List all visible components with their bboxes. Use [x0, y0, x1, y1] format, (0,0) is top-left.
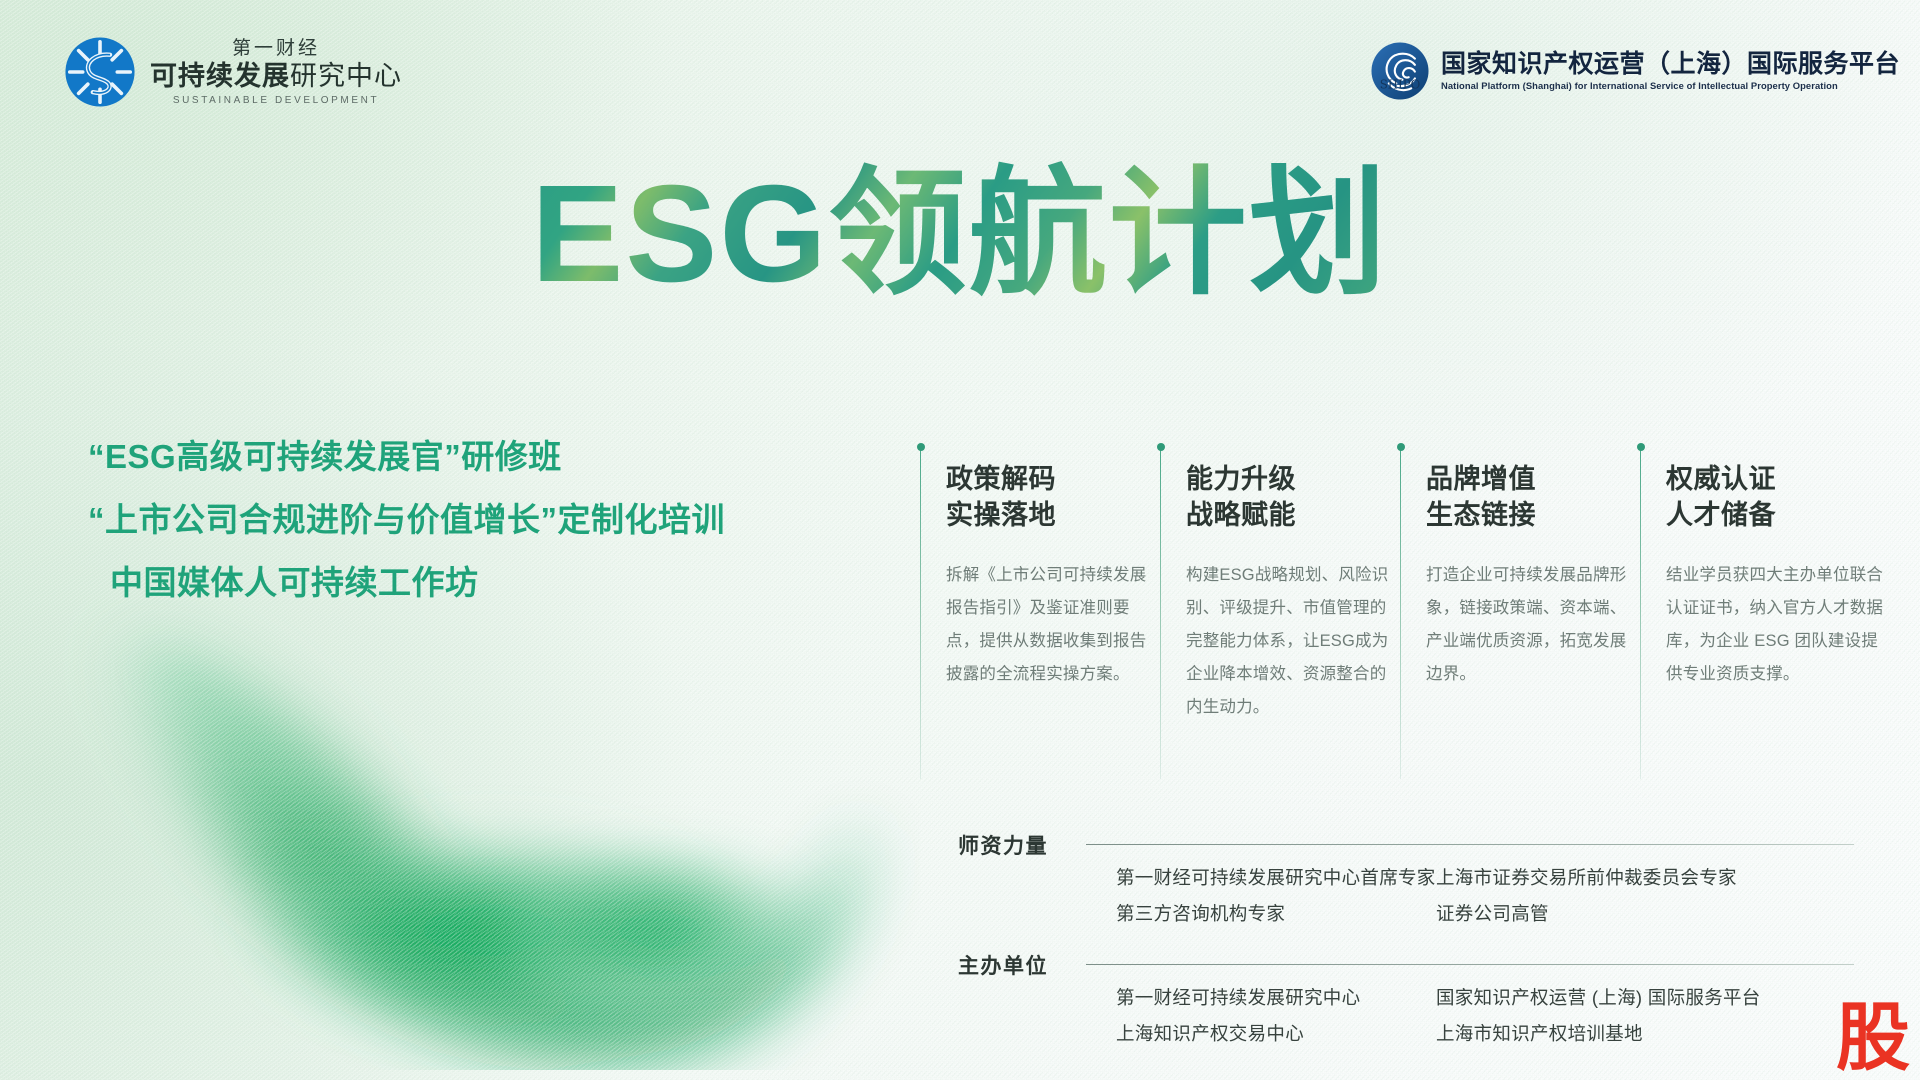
column-divider-line: [1160, 449, 1161, 779]
feature-heading-4-line1: 权威认证: [1666, 464, 1776, 494]
faculty-label: 师资力量: [958, 830, 1048, 860]
column-marker-dot-icon: [917, 443, 925, 451]
feature-heading-1: 政策解码实操落地: [946, 461, 1160, 533]
svg-text:SHIPO: SHIPO: [1380, 77, 1421, 91]
host-item: 第一财经可持续发展研究中心: [1116, 980, 1436, 1016]
hosts-column-2: 国家知识产权运营 (上海) 国际服务平台 上海市知识产权培训基地: [1436, 980, 1876, 1051]
shipo-title-cn: 国家知识产权运营（上海）国际服务平台: [1441, 51, 1900, 77]
shipo-logo-text: 国家知识产权运营（上海）国际服务平台 National Platform (Sh…: [1441, 51, 1900, 91]
faculty-item: 上海市证券交易所前仲裁委员会专家: [1436, 860, 1876, 896]
cbn-brand-en: SUSTAINABLE DEVELOPMENT: [173, 96, 379, 106]
shipo-national-platform-logo: SHIPO 国家知识产权运营（上海）国际服务平台 National Platfo…: [1369, 40, 1900, 102]
hosts-column-1: 第一财经可持续发展研究中心 上海知识产权交易中心: [1116, 980, 1436, 1051]
faculty-item: 第一财经可持续发展研究中心首席专家: [1116, 860, 1436, 896]
feature-columns: 政策解码实操落地 拆解《上市公司可持续发展报告指引》及鉴证准则要点，提供从数据收…: [920, 443, 1890, 724]
column-divider-line: [920, 449, 921, 779]
hosts-divider: [1086, 964, 1854, 965]
faculty-column-1: 第一财经可持续发展研究中心首席专家 第三方咨询机构专家: [1116, 860, 1436, 931]
feature-body-3: 打造企业可持续发展品牌形象，链接政策端、资本端、产业端优质资源，拓宽发展边界。: [1426, 559, 1640, 691]
feature-heading-2-line2: 战略赋能: [1186, 500, 1296, 530]
feature-body-2: 构建ESG战略规划、风险识别、评级提升、市值管理的完整能力体系，让ESG成为企业…: [1186, 559, 1400, 724]
shipo-title-en: National Platform (Shanghai) for Interna…: [1441, 81, 1900, 91]
feature-heading-3-line2: 生态链接: [1426, 500, 1536, 530]
feature-heading-4-line2: 人才储备: [1666, 500, 1776, 530]
feature-heading-2: 能力升级战略赋能: [1186, 461, 1400, 533]
program-item-1: “ESG高级可持续发展官”研修班: [88, 440, 888, 473]
column-marker-dot-icon: [1397, 443, 1405, 451]
hosts-columns: 第一财经可持续发展研究中心 上海知识产权交易中心 国家知识产权运营 (上海) 国…: [1116, 980, 1878, 1051]
host-item: 上海知识产权交易中心: [1116, 1016, 1436, 1052]
feature-heading-4: 权威认证人才储备: [1666, 461, 1890, 533]
feature-heading-3: 品牌增值生态链接: [1426, 461, 1640, 533]
program-item-3: 中国媒体人可持续工作坊: [88, 566, 888, 599]
cbn-brand-line1: 第一财经: [232, 39, 320, 58]
poster-canvas: 第一财经 可持续发展研究中心 SUSTAINABLE DEVELOPMENT S…: [0, 0, 1920, 1080]
page-title: ESG领航计划: [531, 148, 1388, 321]
red-stamp-watermark: 股: [1836, 1004, 1910, 1072]
cbn-brand-line2: 可持续发展研究中心: [150, 63, 402, 90]
feature-heading-1-line1: 政策解码: [946, 464, 1056, 494]
feature-column-4: 权威认证人才储备 结业学员获四大主办单位联合认证证书，纳入官方人才数据库，为企业…: [1640, 443, 1890, 724]
faculty-divider: [1086, 844, 1854, 845]
feature-heading-1-line2: 实操落地: [946, 500, 1056, 530]
cbn-brand-bold: 可持续发展: [150, 61, 290, 91]
column-marker-dot-icon: [1637, 443, 1645, 451]
program-item-2: “上市公司合规进阶与价值增长”定制化培训: [88, 503, 888, 536]
main-title-area: ESG领航计划: [0, 148, 1920, 321]
green-swoosh-decoration: [20, 600, 920, 1070]
column-divider-line: [1400, 449, 1401, 779]
feature-column-3: 品牌增值生态链接 打造企业可持续发展品牌形象，链接政策端、资本端、产业端优质资源…: [1400, 443, 1640, 724]
aperture-shutter-icon: [64, 36, 136, 108]
cbn-sustainable-development-logo: 第一财经 可持续发展研究中心 SUSTAINABLE DEVELOPMENT: [64, 36, 402, 108]
faculty-item: 证券公司高管: [1436, 896, 1876, 932]
faculty-column-2: 上海市证券交易所前仲裁委员会专家 证券公司高管: [1436, 860, 1876, 931]
faculty-item: 第三方咨询机构专家: [1116, 896, 1436, 932]
cbn-brand-light: 研究中心: [290, 61, 402, 91]
fingerprint-circle-icon: SHIPO: [1369, 40, 1431, 102]
faculty-columns: 第一财经可持续发展研究中心首席专家 第三方咨询机构专家 上海市证券交易所前仲裁委…: [1116, 860, 1878, 931]
feature-heading-3-line1: 品牌增值: [1426, 464, 1536, 494]
hosts-label: 主办单位: [958, 950, 1048, 980]
feature-body-4: 结业学员获四大主办单位联合认证证书，纳入官方人才数据库，为企业 ESG 团队建设…: [1666, 559, 1890, 691]
host-item: 上海市知识产权培训基地: [1436, 1016, 1876, 1052]
feature-column-2: 能力升级战略赋能 构建ESG战略规划、风险识别、评级提升、市值管理的完整能力体系…: [1160, 443, 1400, 724]
cbn-logo-text: 第一财经 可持续发展研究中心 SUSTAINABLE DEVELOPMENT: [150, 39, 402, 106]
column-divider-line: [1640, 449, 1641, 779]
feature-column-1: 政策解码实操落地 拆解《上市公司可持续发展报告指引》及鉴证准则要点，提供从数据收…: [920, 443, 1160, 724]
program-list: “ESG高级可持续发展官”研修班 “上市公司合规进阶与价值增长”定制化培训 中国…: [88, 440, 888, 629]
column-marker-dot-icon: [1157, 443, 1165, 451]
feature-body-1: 拆解《上市公司可持续发展报告指引》及鉴证准则要点，提供从数据收集到报告披露的全流…: [946, 559, 1160, 691]
host-item: 国家知识产权运营 (上海) 国际服务平台: [1436, 980, 1876, 1016]
feature-heading-2-line1: 能力升级: [1186, 464, 1296, 494]
